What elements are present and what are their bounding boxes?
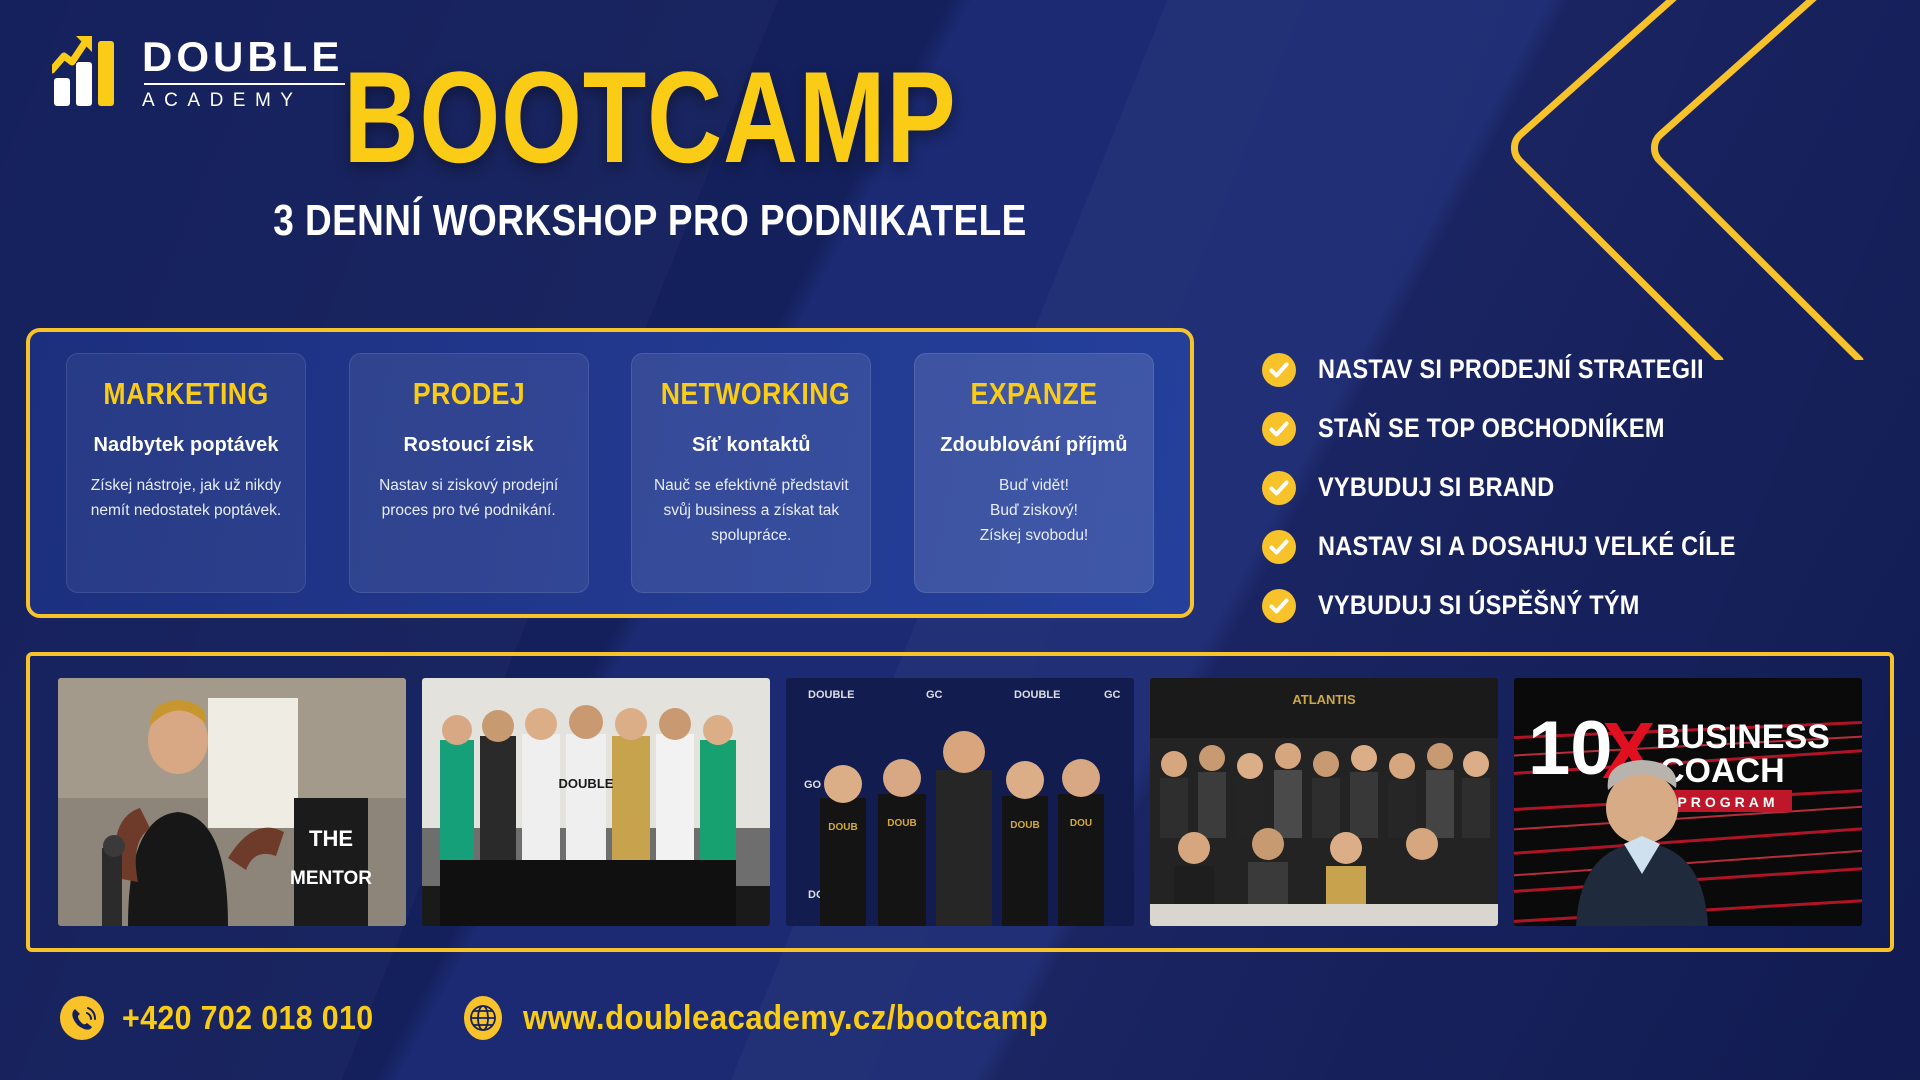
pillar-card-prodej[interactable]: PRODEJ Rostoucí zisk Nastav si ziskový p… <box>349 353 589 593</box>
svg-text:10: 10 <box>1528 706 1613 791</box>
gallery-photo-audience[interactable]: ATLANTIS <box>1150 678 1498 926</box>
card-title: EXPANZE <box>944 376 1125 412</box>
card-subtitle: Zdoublování příjmů <box>929 434 1139 457</box>
checklist-item[interactable]: VYBUDUJ SI BRAND <box>1262 458 1882 517</box>
page-title: BOOTCAMP <box>130 52 1170 182</box>
contact-footer: +420 702 018 010 www.doubleacademy.cz/bo… <box>60 996 1094 1040</box>
card-body: Nastav si ziskový prodejní proces pro tv… <box>364 473 574 523</box>
gallery-photo-business-coach-poster[interactable]: 10 X BUSINESS COACH PROGRAM <box>1514 678 1862 926</box>
contact-website[interactable]: www.doubleacademy.cz/bootcamp <box>461 996 1094 1040</box>
poster-canvas: DOUBLE ACADEMY BOOTCAMP 3 DENNÍ WORKSHOP… <box>0 0 1920 1080</box>
svg-text:DOU: DOU <box>1070 818 1092 829</box>
checklist-item[interactable]: NASTAV SI PRODEJNÍ STRATEGII <box>1262 340 1882 399</box>
gallery-photo-group-stage[interactable]: DOUBLE <box>422 678 770 926</box>
svg-text:DOUBLE: DOUBLE <box>1014 689 1060 701</box>
page-subtitle: 3 DENNÍ WORKSHOP PRO PODNIKATELE <box>104 196 1196 246</box>
card-title: NETWORKING <box>661 376 842 412</box>
chevron-decoration <box>1420 0 1920 360</box>
svg-text:PROGRAM: PROGRAM <box>1677 794 1778 810</box>
svg-text:GC: GC <box>1104 689 1121 701</box>
svg-text:ATLANTIS: ATLANTIS <box>1292 692 1356 707</box>
check-circle-icon <box>1262 530 1296 564</box>
checklist-label: STAŇ SE TOP OBCHODNÍKEM <box>1318 413 1665 444</box>
checklist-item[interactable]: VYBUDUJ SI ÚSPĚŠNÝ TÝM <box>1262 576 1882 635</box>
event-photo-gallery: THE MENTOR <box>26 652 1894 952</box>
check-circle-icon <box>1262 471 1296 505</box>
benefits-checklist: NASTAV SI PRODEJNÍ STRATEGII STAŇ SE TOP… <box>1262 340 1882 635</box>
gallery-photo-team-backdrop[interactable]: DOUBLEGCDOUBLEGC GOA!DOUDO DOUBDOUBDOUBD… <box>786 678 1134 926</box>
gallery-photo-speaker[interactable]: THE MENTOR <box>58 678 406 926</box>
pillars-panel: MARKETING Nadbytek poptávek Získej nástr… <box>26 328 1194 618</box>
check-circle-icon <box>1262 589 1296 623</box>
svg-text:DOUBLE: DOUBLE <box>559 776 614 791</box>
pillar-card-expanze[interactable]: EXPANZE Zdoublování příjmů Buď vidět! Bu… <box>914 353 1154 593</box>
card-subtitle: Síť kontaktů <box>646 434 856 457</box>
globe-icon <box>461 996 505 1040</box>
card-subtitle: Rostoucí zisk <box>364 434 574 457</box>
svg-text:DOUB: DOUB <box>1010 820 1039 831</box>
phone-number: +420 702 018 010 <box>122 999 374 1037</box>
card-subtitle: Nadbytek poptávek <box>81 434 291 457</box>
svg-text:GO: GO <box>804 779 822 791</box>
checklist-label: VYBUDUJ SI ÚSPĚŠNÝ TÝM <box>1318 590 1640 621</box>
svg-text:THE: THE <box>309 826 353 851</box>
svg-text:GC: GC <box>926 689 943 701</box>
checklist-label: VYBUDUJ SI BRAND <box>1318 472 1555 503</box>
check-circle-icon <box>1262 412 1296 446</box>
hero-heading-block: BOOTCAMP 3 DENNÍ WORKSHOP PRO PODNIKATEL… <box>0 52 1300 246</box>
checklist-item[interactable]: NASTAV SI A DOSAHUJ VELKÉ CÍLE <box>1262 517 1882 576</box>
svg-text:COACH: COACH <box>1660 752 1785 790</box>
pillar-card-marketing[interactable]: MARKETING Nadbytek poptávek Získej nástr… <box>66 353 306 593</box>
phone-icon <box>60 996 104 1040</box>
contact-phone[interactable]: +420 702 018 010 <box>60 996 395 1040</box>
svg-text:BUSINESS: BUSINESS <box>1656 718 1830 756</box>
card-title: MARKETING <box>96 376 277 412</box>
pillar-card-networking[interactable]: NETWORKING Síť kontaktů Nauč se efektivn… <box>631 353 871 593</box>
svg-text:DOUB: DOUB <box>887 818 916 829</box>
svg-text:DOUB: DOUB <box>828 822 857 833</box>
checklist-label: NASTAV SI PRODEJNÍ STRATEGII <box>1318 354 1704 385</box>
checklist-item[interactable]: STAŇ SE TOP OBCHODNÍKEM <box>1262 399 1882 458</box>
check-circle-icon <box>1262 353 1296 387</box>
svg-text:MENTOR: MENTOR <box>290 868 372 889</box>
website-url: www.doubleacademy.cz/bootcamp <box>523 999 1048 1038</box>
card-body: Nauč se efektivně představit svůj busine… <box>646 473 856 548</box>
checklist-label: NASTAV SI A DOSAHUJ VELKÉ CÍLE <box>1318 531 1736 562</box>
card-title: PRODEJ <box>378 376 559 412</box>
card-body: Získej nástroje, jak už nikdy nemít nedo… <box>81 473 291 523</box>
svg-text:DOUBLE: DOUBLE <box>808 689 854 701</box>
card-body: Buď vidět! Buď ziskový! Získej svobodu! <box>929 473 1139 548</box>
